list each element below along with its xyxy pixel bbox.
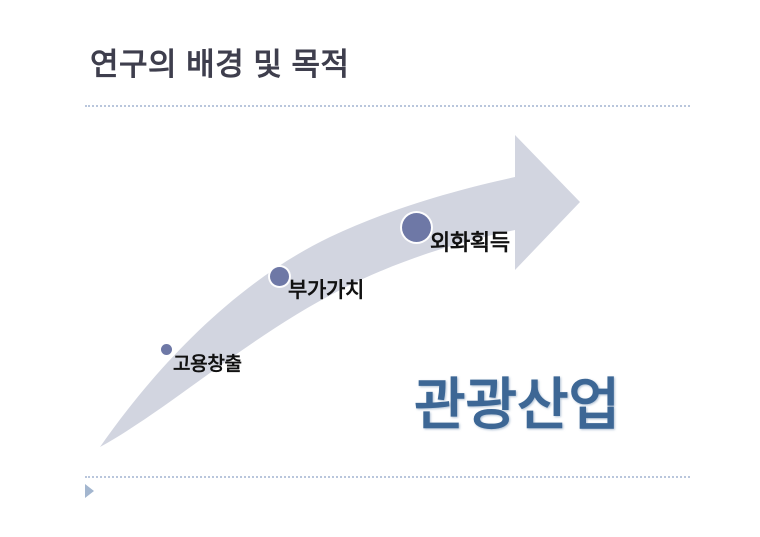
footer-divider-bottom — [85, 476, 690, 478]
slide-canvas: 연구의 배경 및 목적 고용창출 부가가치 외화획득 관광산업 — [0, 0, 760, 537]
milestone-label-2: 부가가치 — [288, 274, 364, 304]
play-triangle-icon — [85, 484, 94, 498]
page-title: 연구의 배경 및 목적 — [90, 48, 350, 82]
title-divider-top — [85, 105, 690, 107]
headline-text: 관광산업 — [414, 360, 620, 441]
milestone-label-1: 고용창출 — [173, 349, 242, 376]
milestone-node-2 — [270, 267, 289, 286]
milestone-label-3: 외화획득 — [430, 225, 510, 257]
milestone-node-1 — [161, 344, 172, 355]
milestone-node-3 — [402, 213, 431, 242]
